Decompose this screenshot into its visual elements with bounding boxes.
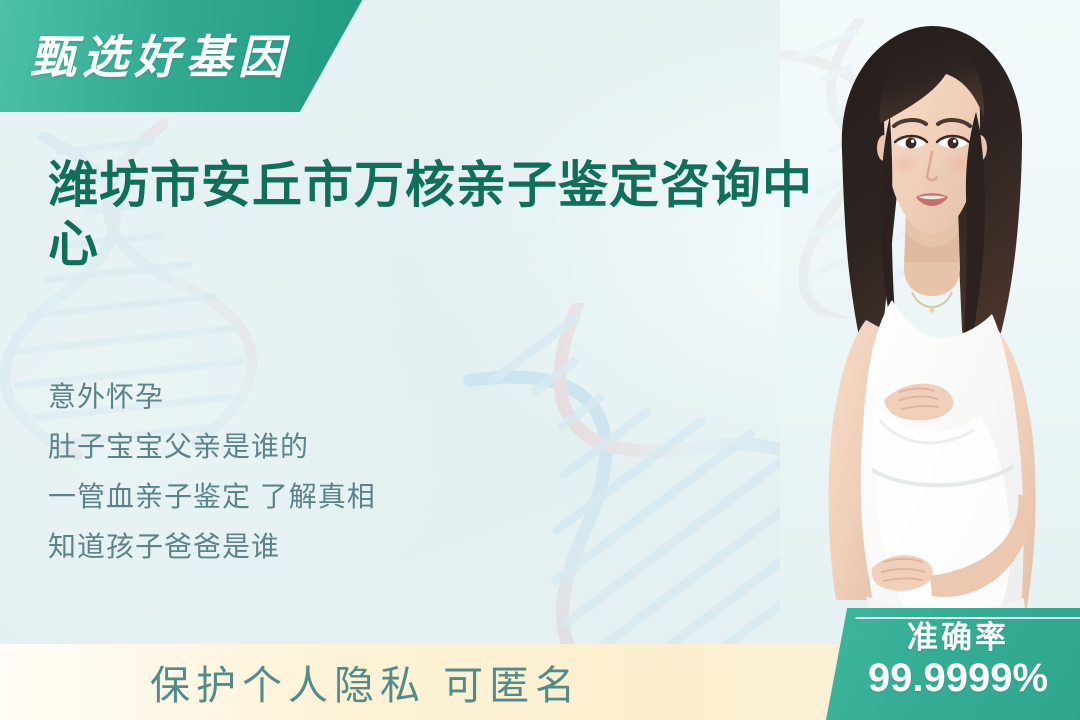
model-figure [780, 0, 1080, 668]
badge-value: 99.9999% [826, 655, 1080, 702]
copy-line: 一管血亲子鉴定 了解真相 [48, 472, 608, 522]
badge-label: 准确率 [826, 622, 1080, 655]
brand-logo-text: 甄选好基因 [30, 21, 290, 87]
copy-line: 意外怀孕 [48, 372, 608, 422]
marketing-copy-block: 意外怀孕 肚子宝宝父亲是谁的 一管血亲子鉴定 了解真相 知道孩子爸爸是谁 [48, 372, 608, 572]
privacy-banner-text: 保护个人隐私 可匿名 [150, 653, 581, 711]
brand-logo-banner[interactable]: 甄选好基因 [0, 0, 370, 112]
badge-content: 准确率 99.9999% [826, 608, 1080, 702]
copy-line: 肚子宝宝父亲是谁的 [48, 422, 608, 472]
page-title: 潍坊市安丘市万核亲子鉴定咨询中心 [48, 156, 848, 274]
pregnant-woman-photo [780, 0, 1080, 668]
poster-root: 甄选好基因 潍坊市安丘市万核亲子鉴定咨询中心 意外怀孕 肚子宝宝父亲是谁的 一管… [0, 0, 1080, 720]
copy-line: 知道孩子爸爸是谁 [48, 522, 608, 572]
accuracy-badge: 准确率 99.9999% [826, 608, 1080, 720]
